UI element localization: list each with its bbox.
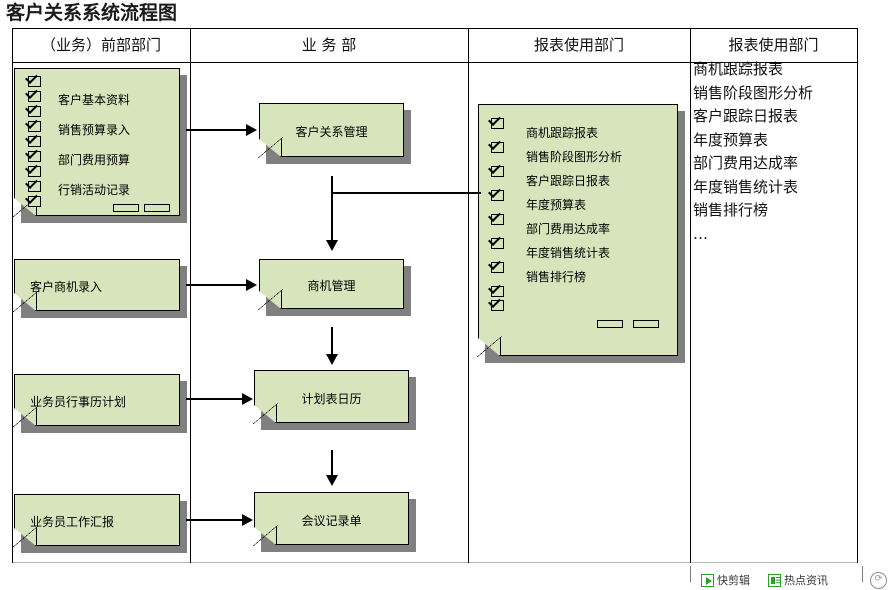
check-icon[interactable] [491,214,504,225]
connector-line [331,327,333,357]
check-icon[interactable] [28,136,41,147]
process-crm-management[interactable]: 客户关系管理 [259,103,404,157]
reports-document-line: 客户跟踪日报表 [526,172,610,189]
news-icon [768,574,781,587]
taskbar-item-quick-clip[interactable]: 快剪辑 [701,572,750,588]
arrow-down-icon [326,240,338,251]
reports-document-line: 商机跟踪报表 [526,124,598,141]
arrow-down-icon [326,475,338,486]
check-icon[interactable] [491,262,504,273]
input-document-line: 客户基本资料 [58,91,130,108]
note-customer-opportunity-entry[interactable]: 客户商机录入 [14,259,180,311]
reports-text-list-item: 年度预算表 [693,129,857,153]
check-icon[interactable] [491,238,504,249]
connector-branch-line [331,192,481,194]
input-document-line: 部门费用预算 [58,151,130,168]
arrow-right-icon [242,393,253,405]
input-document-line: 销售预算录入 [58,121,130,138]
flowchart-page: 客户关系系统流程图 （业务）前部部门 业 务 部 报表使用部门 报表使用部门 [0,0,891,590]
grid-vline-2 [468,28,469,563]
process-label: 计划表日历 [254,390,409,407]
connector-line [186,129,248,131]
page-title: 客户关系系统流程图 [6,0,177,26]
check-icon[interactable] [28,181,41,192]
reports-text-list-item: … [693,223,857,247]
reports-text-list-item: 部门费用达成率 [693,152,857,176]
input-document-button[interactable] [144,204,170,212]
note-label: 客户商机录入 [30,278,102,295]
process-label: 会议记录单 [254,512,409,529]
taskbar-divider [690,566,691,582]
reports-document-button[interactable] [597,320,623,328]
reports-document-line: 年度销售统计表 [526,244,610,261]
taskbar-item-hot-news[interactable]: 热点资讯 [768,572,828,588]
reports-document-button[interactable] [633,320,659,328]
reports-text-list-item: 客户跟踪日报表 [693,105,857,129]
process-label: 商机管理 [259,277,404,294]
input-document-line: 行销活动记录 [58,181,130,198]
connector-line [186,398,244,400]
process-opportunity-management[interactable]: 商机管理 [259,259,404,309]
arrow-down-icon [326,354,338,365]
column-header-front-office: （业务）前部部门 [12,28,190,62]
grid-vline-1 [190,28,191,563]
note-label: 业务员工作汇报 [30,513,114,530]
check-icon[interactable] [28,106,41,117]
check-icon[interactable] [28,151,41,162]
taskbar-item-refresh[interactable]: ⟳ [870,572,887,589]
taskbar-item-label: 快剪辑 [717,572,750,588]
input-document-button[interactable] [113,204,139,212]
check-icon[interactable] [491,300,504,311]
taskbar-divider [862,566,863,582]
grid-border-bottom [12,562,858,563]
connector-line [186,519,244,521]
reports-document[interactable]: 商机跟踪报表 销售阶段图形分析 客户跟踪日报表 年度预算表 部门费用达成率 年度… [478,104,678,356]
connector-line [331,450,333,478]
input-document-content: 客户基本资料 销售预算录入 部门费用预算 行销活动记录 [14,68,180,216]
column-header-business-dept: 业 务 部 [190,28,468,62]
reports-document-content: 商机跟踪报表 销售阶段图形分析 客户跟踪日报表 年度预算表 部门费用达成率 年度… [478,104,678,356]
process-label: 客户关系管理 [259,123,404,140]
reports-text-list-item: 销售阶段图形分析 [693,82,857,106]
check-icon[interactable] [28,121,41,132]
column-header-reports-dept: 报表使用部门 [468,28,690,62]
check-icon[interactable] [28,196,41,207]
check-icon[interactable] [28,166,41,177]
check-icon[interactable] [491,166,504,177]
reports-text-list-item: 商机跟踪报表 [693,58,857,82]
taskbar: 快剪辑 热点资讯 ⟳ [690,566,891,590]
process-plan-calendar[interactable]: 计划表日历 [254,370,409,423]
arrow-right-icon [246,279,257,291]
arrow-right-icon [242,514,253,526]
check-icon[interactable] [491,286,504,297]
process-meeting-record[interactable]: 会议记录单 [254,492,409,545]
reports-document-line: 部门费用达成率 [526,220,610,237]
reports-text-list-item: 销售排行榜 [693,199,857,223]
circle-icon: ⟳ [870,572,887,589]
play-icon [701,574,714,587]
check-icon[interactable] [491,118,504,129]
note-salesperson-calendar-plan[interactable]: 业务员行事历计划 [14,374,180,426]
taskbar-item-label: 热点资讯 [784,572,828,588]
check-icon[interactable] [28,76,41,87]
process-fold-icon [259,138,282,157]
check-icon[interactable] [491,190,504,201]
input-document[interactable]: 客户基本资料 销售预算录入 部门费用预算 行销活动记录 [14,68,180,216]
reports-document-line: 销售阶段图形分析 [526,148,622,165]
grid-vline-4 [857,28,858,563]
check-icon[interactable] [491,142,504,153]
reports-text-list: 商机跟踪报表 销售阶段图形分析 客户跟踪日报表 年度预算表 部门费用达成率 年度… [693,58,857,246]
check-icon[interactable] [28,91,41,102]
connector-line [331,176,333,243]
column-header-reports-list: 报表使用部门 [690,28,857,62]
arrow-right-icon [246,124,257,136]
note-label: 业务员行事历计划 [30,393,126,410]
reports-document-line: 销售排行榜 [526,268,586,285]
connector-line [186,284,248,286]
reports-document-line: 年度预算表 [526,196,586,213]
note-salesperson-work-report[interactable]: 业务员工作汇报 [14,494,180,546]
reports-text-list-item: 年度销售统计表 [693,176,857,200]
grid-vline-3 [690,28,691,563]
